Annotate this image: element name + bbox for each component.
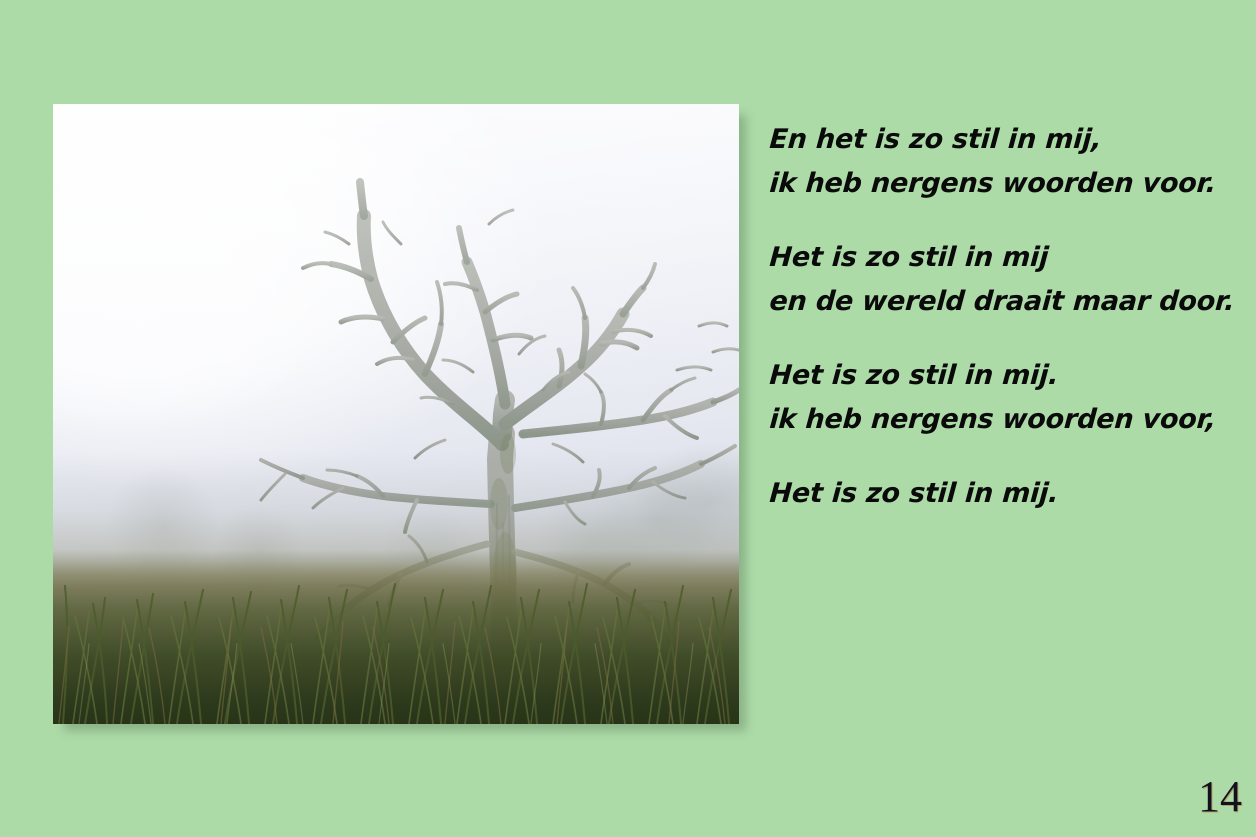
poem-stanza-2: Het is zo stil in mij en de wereld draai… [768, 236, 1238, 324]
page-number: 14 [1198, 772, 1242, 822]
photo-misty-tree[interactable] [53, 104, 739, 724]
poem-line: Het is zo stil in mij. [768, 472, 1241, 516]
poem-text-block: En het is zo stil in mij, ik heb nergens… [768, 118, 1238, 516]
slide-canvas: En het is zo stil in mij, ik heb nergens… [0, 0, 1256, 837]
poem-line: ik heb nergens woorden voor, [768, 398, 1241, 442]
poem-line: ik heb nergens woorden voor. [768, 162, 1241, 206]
poem-line: Het is zo stil in mij [768, 236, 1241, 280]
poem-line: Het is zo stil in mij. [768, 354, 1241, 398]
poem-line: en de wereld draait maar door. [768, 280, 1241, 324]
poem-stanza-4: Het is zo stil in mij. [768, 472, 1238, 516]
poem-line: En het is zo stil in mij, [768, 118, 1241, 162]
poem-stanza-3: Het is zo stil in mij. ik heb nergens wo… [768, 354, 1238, 442]
poem-stanza-1: En het is zo stil in mij, ik heb nergens… [768, 118, 1238, 206]
mist-veil [53, 104, 739, 724]
